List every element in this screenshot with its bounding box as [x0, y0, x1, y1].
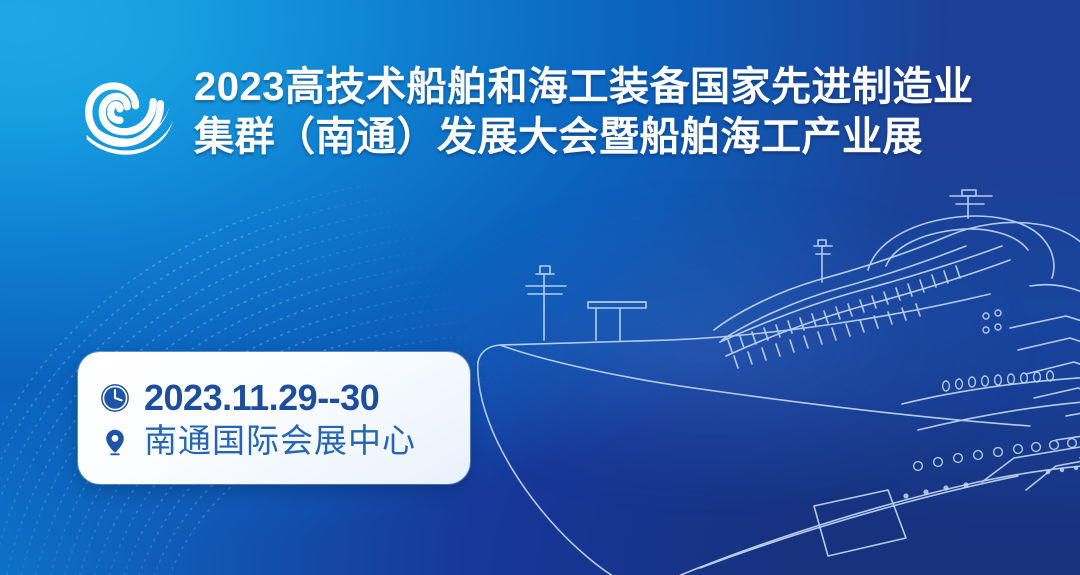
event-banner: 2023高技术船舶和海工装备国家先进制造业 集群（南通）发展大会暨船舶海工产业展… — [0, 0, 1080, 575]
clock-icon — [100, 383, 130, 413]
event-date: 2023.11.29--30 — [144, 378, 379, 418]
banner-header: 2023高技术船舶和海工装备国家先进制造业 集群（南通）发展大会暨船舶海工产业展 — [70, 58, 973, 164]
ship-glow — [420, 150, 1080, 530]
event-venue-row: 南通国际会展中心 — [100, 422, 452, 460]
event-info-card: 2023.11.29--30 南通国际会展中心 — [78, 352, 470, 484]
cruise-ship-illustration — [470, 190, 1080, 575]
event-venue: 南通国际会展中心 — [144, 422, 416, 460]
location-pin-icon — [100, 426, 130, 456]
banner-titles: 2023高技术船舶和海工装备国家先进制造业 集群（南通）发展大会暨船舶海工产业展 — [194, 58, 973, 162]
event-date-row: 2023.11.29--30 — [100, 378, 452, 418]
wave-spiral-logo-icon — [70, 60, 174, 164]
title-line-2: 集群（南通）发展大会暨船舶海工产业展 — [194, 112, 973, 162]
title-line-1: 2023高技术船舶和海工装备国家先进制造业 — [194, 62, 973, 112]
wave-arcs-decoration — [0, 120, 640, 575]
